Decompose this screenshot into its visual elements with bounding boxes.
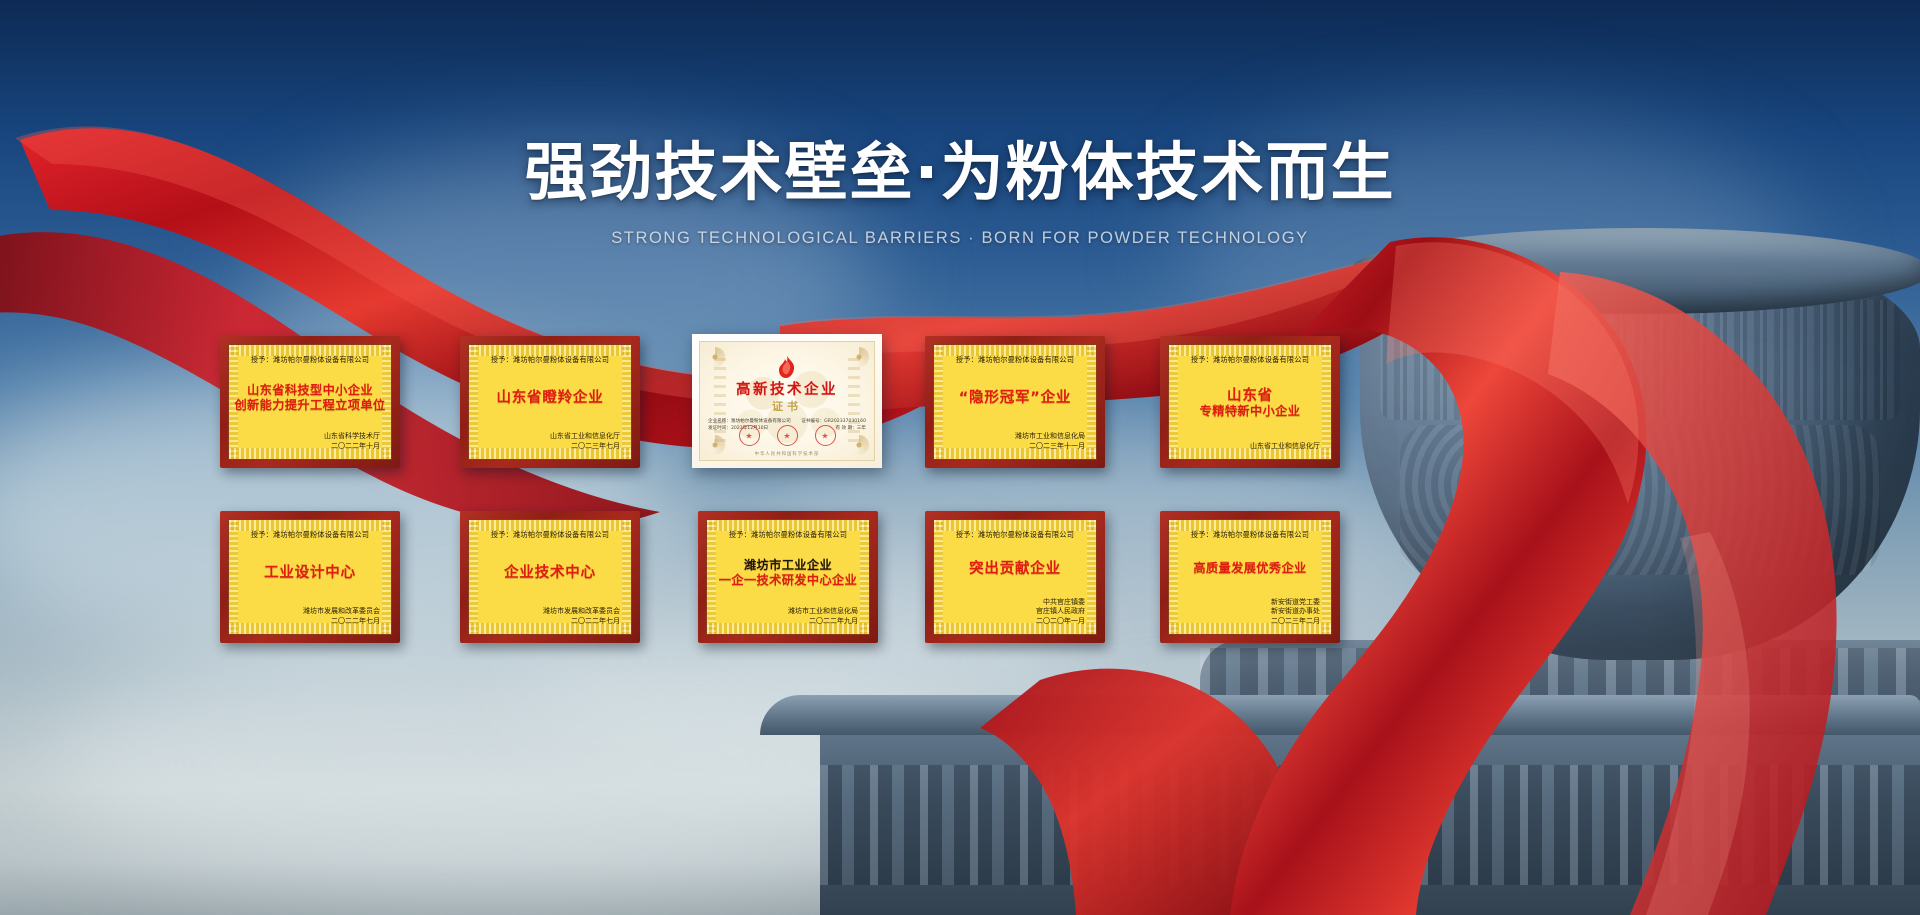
- certificate-footer: 中华人民共和国科学技术部: [700, 451, 874, 457]
- plaque-title-line: 突出贡献企业: [969, 561, 1061, 577]
- plaque-issuer-line: 新安街道办事处: [1177, 607, 1320, 616]
- plaque-specialized-sme[interactable]: 授予：潍坊帕尔曼粉体设备有限公司 山东省 专精特新中小企业 山东省工业和信息化厅: [1160, 336, 1340, 468]
- plaque-title: 山东省 专精特新中小企业: [1177, 365, 1323, 442]
- plaque-edge-right: [382, 520, 391, 634]
- plaque-title: 高质量发展优秀企业: [1177, 540, 1323, 598]
- plaque-issuer: 潍坊市工业和信息化局 二〇二三年十一月: [942, 432, 1088, 451]
- awards-gallery: 授予：潍坊帕尔曼粉体设备有限公司 山东省科技型中小企业 创新能力提升工程立项单位…: [0, 336, 1920, 659]
- plaque-title: 山东省瞪羚企业: [477, 365, 623, 432]
- plaque-title-line: 潍坊市工业企业: [744, 559, 832, 573]
- plaque-title-line: 专精特新中小企业: [1200, 405, 1301, 419]
- plaque-issuer-line: 新安街道党工委: [1177, 598, 1320, 607]
- plaque-title-line: “隐形冠军”企业: [959, 390, 1071, 406]
- plaque-issuer-date: 二〇二二年十月: [237, 442, 380, 451]
- plaque-title: 山东省科技型中小企业 创新能力提升工程立项单位: [237, 365, 383, 432]
- seal-stamp-icon: [815, 425, 836, 446]
- plaque-industrial-design-center[interactable]: 授予：潍坊帕尔曼粉体设备有限公司 工业设计中心 潍坊市发展和改革委员会 二〇二二…: [220, 511, 400, 643]
- plaque-issuer-line: 山东省工业和信息化厅: [1177, 442, 1320, 451]
- stone-slab-lip: [760, 695, 1920, 735]
- plaque-enterprise-technology-center[interactable]: 授予：潍坊帕尔曼粉体设备有限公司 企业技术中心 潍坊市发展和改革委员会 二〇二二…: [460, 511, 640, 643]
- plaque-issuer-date: 二〇二三年十一月: [942, 442, 1085, 451]
- certificate-title: 高新技术企业: [700, 378, 874, 399]
- awards-row-1: 授予：潍坊帕尔曼粉体设备有限公司 山东省科技型中小企业 创新能力提升工程立项单位…: [0, 336, 1920, 484]
- plaque-issuer: 中共官庄镇委 官庄镇人民政府 二〇二〇年一月: [942, 598, 1088, 626]
- plaque-issuer: 潍坊市发展和改革委员会 二〇二二年七月: [477, 607, 623, 626]
- plaque-issuer-line: 官庄镇人民政府: [942, 607, 1085, 616]
- certificate-subtitle: 证书: [700, 398, 874, 414]
- plaque-title: 工业设计中心: [237, 540, 383, 607]
- plaque-award-to: 授予：潍坊帕尔曼粉体设备有限公司: [1177, 355, 1323, 365]
- plaque-issuer-date: 二〇二三年七月: [477, 442, 620, 451]
- plaque-title-line: 山东省: [1227, 388, 1273, 404]
- plaque-award-to: 授予：潍坊帕尔曼粉体设备有限公司: [477, 530, 623, 540]
- plaque-title-line: 高质量发展优秀企业: [1193, 562, 1306, 576]
- plaque-issuer: 山东省工业和信息化厅 二〇二三年七月: [477, 432, 623, 451]
- flame-icon: [777, 356, 797, 378]
- plaque-issuer-line: 潍坊市发展和改革委员会: [477, 607, 620, 616]
- plaque-title: 潍坊市工业企业 一企一技术研发中心企业: [715, 540, 861, 607]
- headline-block: 强劲技术壁垒·为粉体技术而生 STRONG TECHNOLOGICAL BARR…: [0, 138, 1920, 248]
- plaque-title-line: 工业设计中心: [264, 565, 356, 581]
- plaque-title-line: 山东省科技型中小企业: [247, 384, 373, 398]
- page-subtitle: STRONG TECHNOLOGICAL BARRIERS · BORN FOR…: [0, 229, 1920, 248]
- plaque-award-to: 授予：潍坊帕尔曼粉体设备有限公司: [237, 530, 383, 540]
- plaque-title-line: 企业技术中心: [504, 565, 596, 581]
- plaque-issuer: 新安街道党工委 新安街道办事处 二〇二三年二月: [1177, 598, 1323, 626]
- plaque-outstanding-contribution-enterprise[interactable]: 授予：潍坊帕尔曼粉体设备有限公司 突出贡献企业 中共官庄镇委 官庄镇人民政府 二…: [925, 511, 1105, 643]
- plaque-shandong-sme-innovation[interactable]: 授予：潍坊帕尔曼粉体设备有限公司 山东省科技型中小企业 创新能力提升工程立项单位…: [220, 336, 400, 468]
- seal-stamp-icon: [777, 425, 798, 446]
- plaque-edge-right: [1322, 345, 1331, 459]
- plaque-issuer: 山东省科学技术厅 二〇二二年十月: [237, 432, 383, 451]
- plaque-weifang-rd-center-enterprise[interactable]: 授予：潍坊帕尔曼粉体设备有限公司 潍坊市工业企业 一企一技术研发中心企业 潍坊市…: [698, 511, 878, 643]
- plaque-issuer-line: 潍坊市发展和改革委员会: [237, 607, 380, 616]
- plaque-issuer: 潍坊市工业和信息化局 二〇二二年九月: [715, 607, 861, 626]
- cloud-haze: [40, 640, 940, 890]
- plaque-issuer-line: 中共官庄镇委: [942, 598, 1085, 607]
- plaque-award-to: 授予：潍坊帕尔曼粉体设备有限公司: [237, 355, 383, 365]
- plaque-issuer: 潍坊市发展和改革委员会 二〇二二年七月: [237, 607, 383, 626]
- plaque-edge-right: [860, 520, 869, 634]
- awards-row-2: 授予：潍坊帕尔曼粉体设备有限公司 工业设计中心 潍坊市发展和改革委员会 二〇二二…: [0, 511, 1920, 659]
- plaque-issuer-line: 潍坊市工业和信息化局: [715, 607, 858, 616]
- plaque-issuer: 山东省工业和信息化厅: [1177, 442, 1323, 451]
- plaque-title-line: 创新能力提升工程立项单位: [234, 399, 385, 413]
- certificate-high-tech-enterprise[interactable]: 高新技术企业 证书 企业名称：潍坊帕尔曼粉体设备有限公司 证书编号：GR2023…: [692, 334, 882, 468]
- plaque-issuer-line: 山东省工业和信息化厅: [477, 432, 620, 441]
- plaque-issuer-date: 二〇二三年二月: [1177, 617, 1320, 626]
- plaque-title: 突出贡献企业: [942, 540, 1088, 598]
- plaque-edge-right: [1087, 345, 1096, 459]
- plaque-issuer-date: 二〇二二年九月: [715, 617, 858, 626]
- plaque-award-to: 授予：潍坊帕尔曼粉体设备有限公司: [942, 530, 1088, 540]
- plaque-shandong-gazelle-enterprise[interactable]: 授予：潍坊帕尔曼粉体设备有限公司 山东省瞪羚企业 山东省工业和信息化厅 二〇二三…: [460, 336, 640, 468]
- plaque-issuer-line: 山东省科学技术厅: [237, 432, 380, 441]
- plaque-issuer-date: 二〇二〇年一月: [942, 617, 1085, 626]
- plaque-edge-right: [622, 345, 631, 459]
- plaque-edge-right: [1322, 520, 1331, 634]
- banner-stage: 强劲技术壁垒·为粉体技术而生 STRONG TECHNOLOGICAL BARR…: [0, 0, 1920, 915]
- plaque-issuer-date: 二〇二二年七月: [237, 617, 380, 626]
- plaque-award-to: 授予：潍坊帕尔曼粉体设备有限公司: [715, 530, 861, 540]
- seal-stamp-icon: [739, 425, 760, 446]
- plaque-award-to: 授予：潍坊帕尔曼粉体设备有限公司: [942, 355, 1088, 365]
- certificate-seals: [700, 425, 874, 446]
- plaque-award-to: 授予：潍坊帕尔曼粉体设备有限公司: [1177, 530, 1323, 540]
- plaque-high-quality-development-enterprise[interactable]: 授予：潍坊帕尔曼粉体设备有限公司 高质量发展优秀企业 新安街道党工委 新安街道办…: [1160, 511, 1340, 643]
- plaque-hidden-champion-enterprise[interactable]: 授予：潍坊帕尔曼粉体设备有限公司 “隐形冠军”企业 潍坊市工业和信息化局 二〇二…: [925, 336, 1105, 468]
- plaque-edge-right: [1087, 520, 1096, 634]
- plaque-title-line: 一企一技术研发中心企业: [719, 574, 857, 588]
- plaque-title: 企业技术中心: [477, 540, 623, 607]
- plaque-edge-right: [622, 520, 631, 634]
- plaque-award-to: 授予：潍坊帕尔曼粉体设备有限公司: [477, 355, 623, 365]
- page-title: 强劲技术壁垒·为粉体技术而生: [0, 138, 1920, 209]
- plaque-issuer-line: 潍坊市工业和信息化局: [942, 432, 1085, 441]
- plaque-issuer-date: 二〇二二年七月: [477, 617, 620, 626]
- stone-slab-carving: [820, 765, 1920, 885]
- plaque-title-line: 山东省瞪羚企业: [496, 390, 603, 406]
- plaque-title: “隐形冠军”企业: [942, 365, 1088, 432]
